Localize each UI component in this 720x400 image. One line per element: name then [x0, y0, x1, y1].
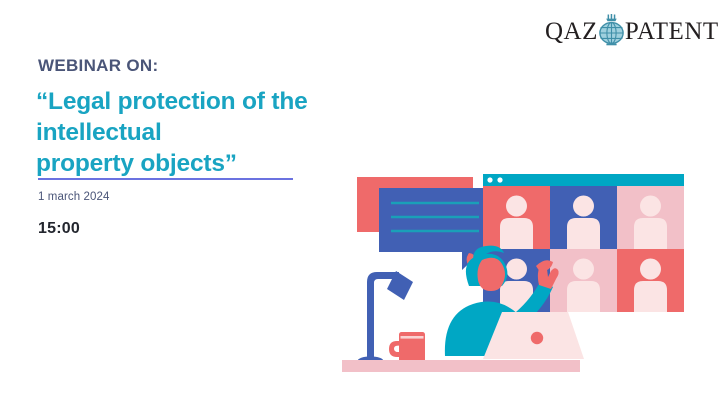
qazpatent-logo[interactable]: QAZ PATENT — [545, 13, 690, 49]
logo-text-qaz: QAZ — [545, 19, 598, 44]
video-tile — [617, 186, 684, 249]
page-title-line-2: property objects” — [36, 149, 366, 180]
video-call-window — [483, 174, 684, 312]
title-divider — [38, 178, 293, 180]
video-tile — [550, 186, 617, 249]
video-tile — [617, 249, 684, 312]
page-title: “Legal protection of the intellectual pr… — [36, 87, 366, 180]
qazpatent-globe-emblem — [597, 14, 626, 48]
webinar-video-call-illustration — [340, 160, 700, 390]
webinar-kicker: WEBINAR ON: — [38, 57, 158, 76]
video-tile-grid — [483, 186, 684, 312]
page-title-line-1: “Legal protection of the intellectual — [36, 87, 366, 149]
desk-surface — [342, 360, 580, 372]
video-tile — [483, 186, 550, 249]
webinar-poster: QAZ PATENT WEBIN — [0, 0, 720, 400]
event-date: 1 march 2024 — [38, 191, 110, 203]
video-tile — [550, 249, 617, 312]
event-time: 15:00 — [38, 220, 80, 238]
logo-text-patent: PATENT — [625, 19, 719, 44]
